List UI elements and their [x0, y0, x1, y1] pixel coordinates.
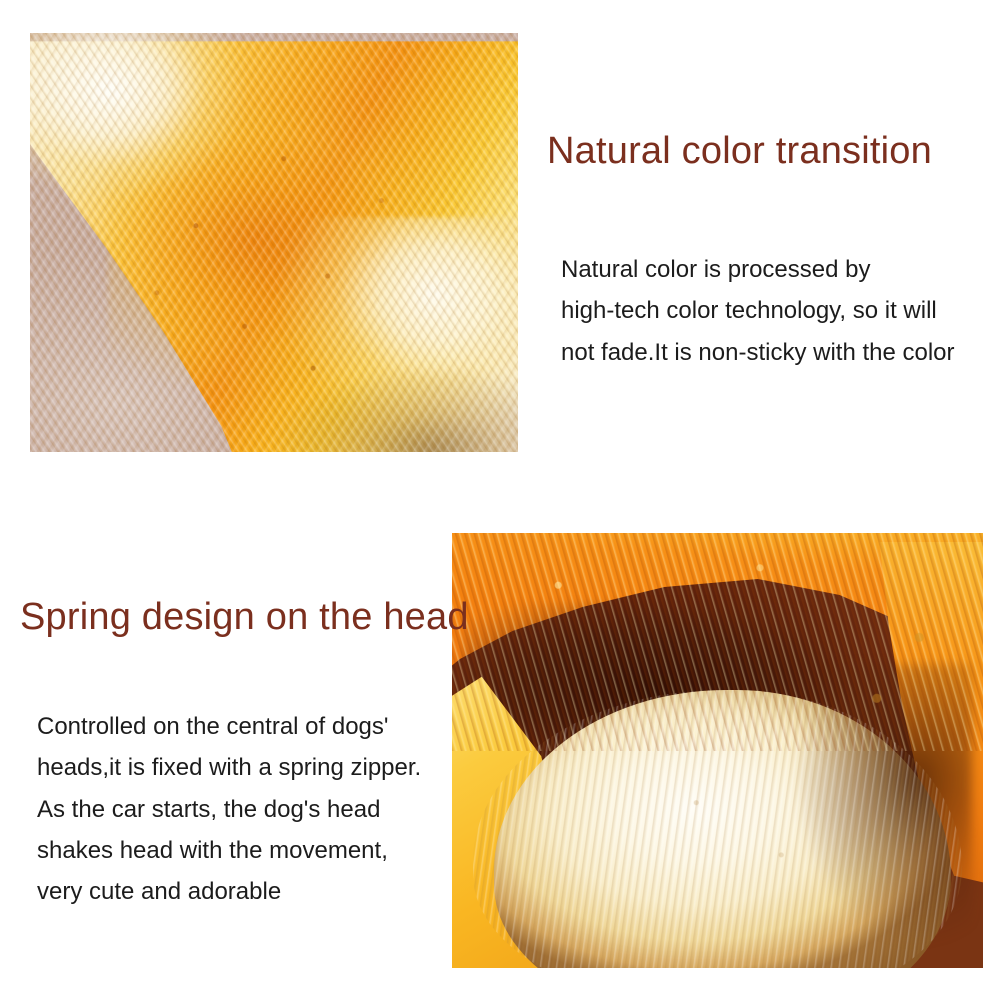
infographic-page: Natural color transition Natural color i…	[0, 0, 1000, 1000]
section-heading-spring-design: Spring design on the head	[20, 597, 469, 639]
section-heading-natural-color: Natural color transition	[547, 131, 932, 173]
body-line: high-tech color technology, so it will	[561, 290, 955, 331]
body-line: heads,it is fixed with a spring zipper.	[37, 747, 421, 788]
body-line: not fade.It is non-sticky with the color	[561, 332, 955, 373]
surface-speckle-texture	[452, 533, 983, 968]
body-line: shakes head with the movement,	[37, 830, 421, 871]
head-spring-cavity-photo	[452, 533, 983, 968]
section-body-spring-design: Controlled on the central of dogs' heads…	[37, 706, 421, 912]
body-line: Natural color is processed by	[561, 249, 955, 290]
body-line: Controlled on the central of dogs'	[37, 706, 421, 747]
fur-speckle-texture	[30, 33, 518, 452]
body-line: As the car starts, the dog's head	[37, 789, 421, 830]
section-body-natural-color: Natural color is processed by high-tech …	[561, 249, 955, 373]
fur-texture-closeup-photo	[30, 33, 518, 452]
body-line: very cute and adorable	[37, 871, 421, 912]
